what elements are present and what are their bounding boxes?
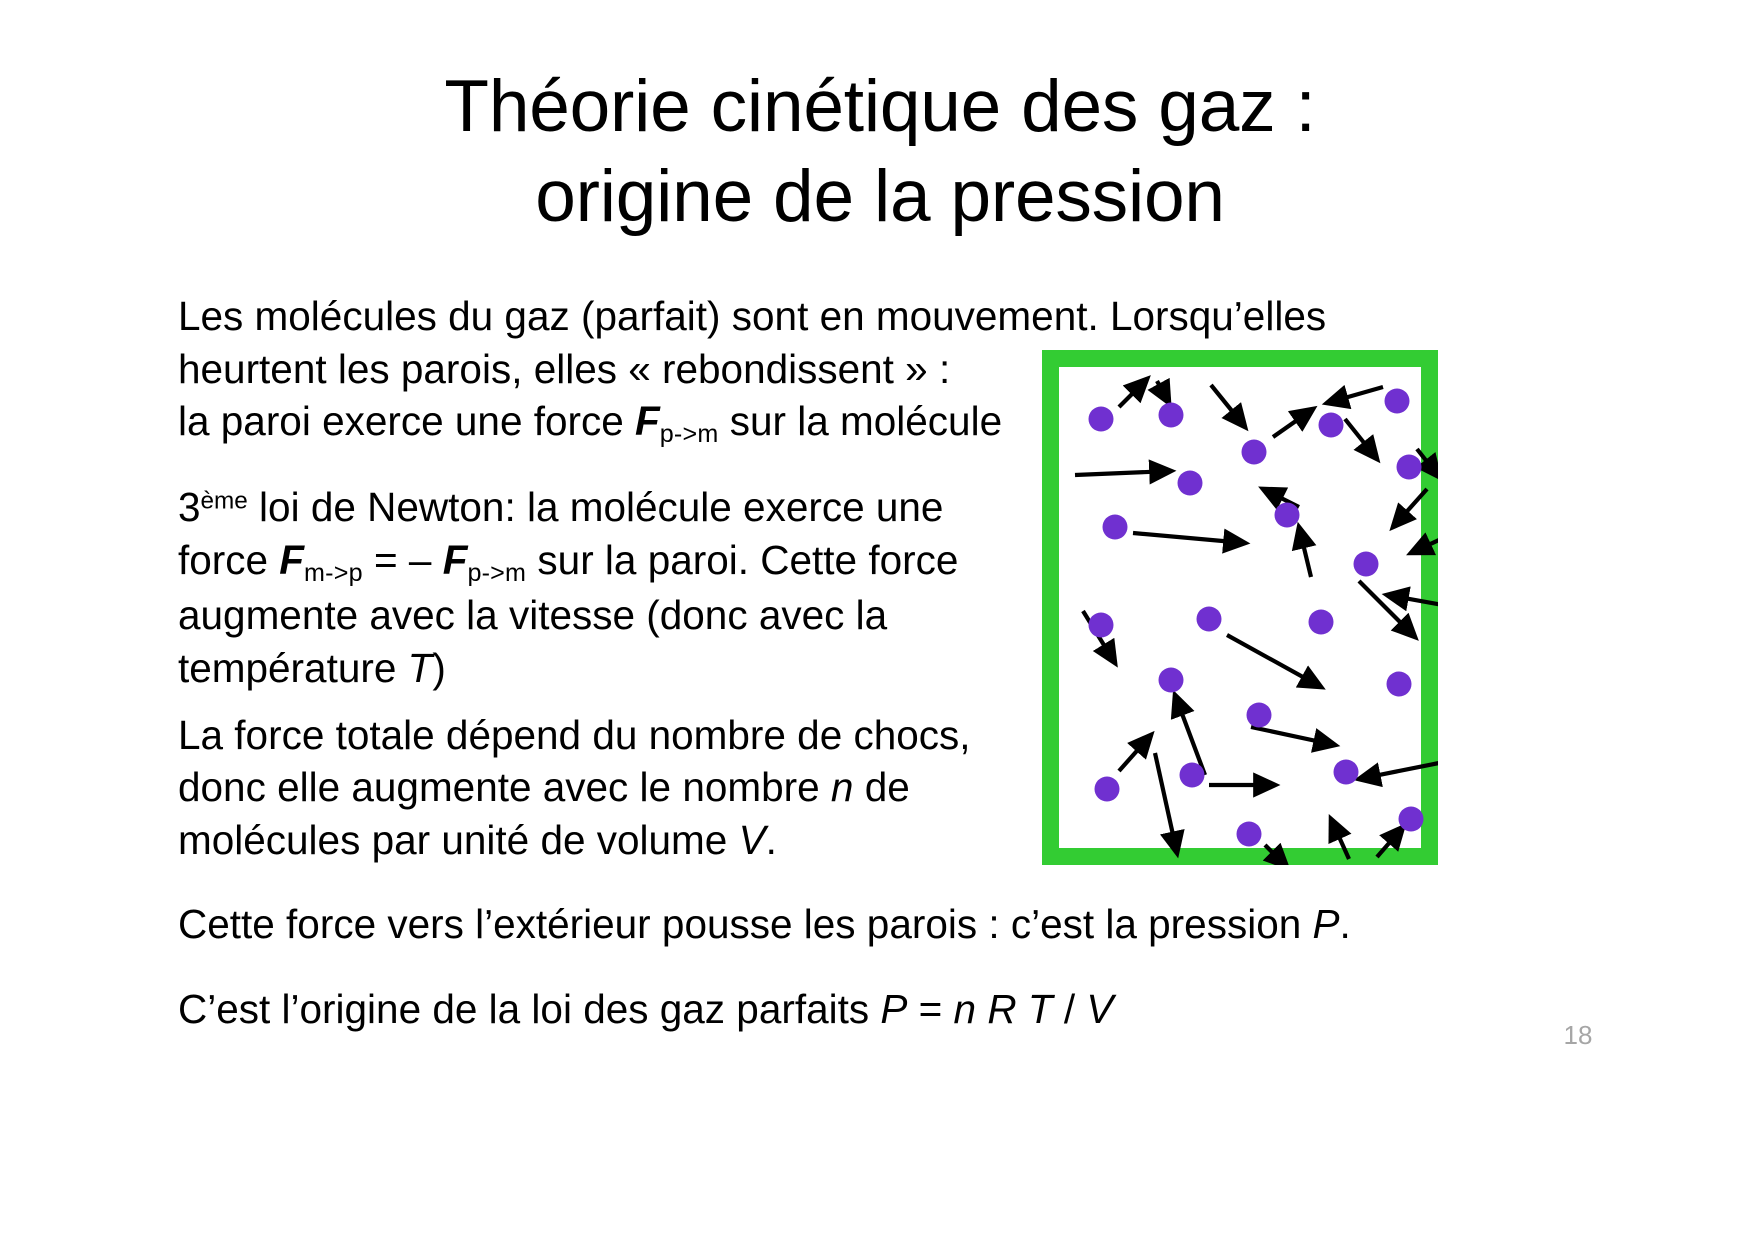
molecule: [1385, 389, 1410, 414]
gas-law-equals: =: [907, 986, 953, 1032]
velocity-arrow: [1387, 595, 1438, 605]
molecule: [1159, 668, 1184, 693]
force-symbol-m-to-p: F: [279, 537, 304, 583]
molecule: [1334, 760, 1359, 785]
velocity-arrow: [1393, 489, 1427, 527]
p2-line-1-post: loi de Newton: la molécule exerce une: [248, 484, 944, 530]
force-symbol-p-to-m-2: F: [443, 537, 468, 583]
slide-title: Théorie cinétique des gaz : origine de l…: [170, 62, 1590, 242]
velocity-arrow: [1359, 761, 1438, 779]
p3-line-3-pre: molécules par unité de volume: [178, 817, 739, 863]
p5-line-1: C’est l’origine de la loi des gaz parfai…: [178, 983, 1578, 1036]
gas-law-T: T: [1028, 986, 1053, 1032]
molecule: [1247, 703, 1272, 728]
title-line-1: Théorie cinétique des gaz :: [170, 62, 1590, 152]
velocity-arrow: [1327, 387, 1383, 403]
force-subscript-p-to-m: p->m: [660, 420, 719, 448]
molecule: [1237, 822, 1262, 847]
title-line-2: origine de la pression: [170, 152, 1590, 242]
force-subscript-p-to-m-2: p->m: [467, 559, 526, 587]
equals-minus: = –: [363, 537, 443, 583]
molecule: [1159, 403, 1184, 428]
velocity-arrow: [1299, 527, 1311, 577]
molecule: [1399, 807, 1424, 832]
paragraph-gas-law: C’est l’origine de la loi des gaz parfai…: [178, 983, 1578, 1036]
molecule: [1309, 610, 1334, 635]
p1-line-1: Les molécules du gaz (parfait) sont en m…: [178, 290, 1578, 343]
variable-volume: V: [739, 817, 766, 863]
gas-law-slash: /: [1053, 986, 1087, 1032]
molecule: [1354, 552, 1379, 577]
molecules-and-velocity-arrows: [1042, 350, 1438, 865]
velocity-arrow: [1411, 539, 1438, 553]
p1-line-3-post: sur la molécule: [718, 398, 1002, 444]
molecule: [1180, 763, 1205, 788]
p4-line-1: Cette force vers l’extérieur pousse les …: [178, 898, 1578, 951]
force-subscript-m-to-p: m->p: [304, 559, 363, 587]
velocity-arrow: [1119, 735, 1151, 771]
molecule: [1387, 672, 1412, 697]
slide-canvas: Théorie cinétique des gaz : origine de l…: [0, 0, 1755, 1240]
gas-law-R: R: [987, 986, 1016, 1032]
velocity-arrow: [1359, 581, 1415, 637]
molecule: [1242, 440, 1267, 465]
variable-pressure: P: [1313, 901, 1340, 947]
p3-line-3-post: .: [766, 817, 777, 863]
molecule: [1197, 607, 1222, 632]
gas-law-P: P: [880, 986, 907, 1032]
gas-law-space-2: [1017, 986, 1028, 1032]
velocity-arrow: [1075, 471, 1171, 475]
velocity-arrow: [1211, 385, 1245, 427]
newton-law-number: 3: [178, 484, 201, 530]
p2-line-4-post: ): [432, 645, 446, 691]
velocity-arrow: [1345, 419, 1377, 459]
velocity-arrow: [1155, 753, 1177, 853]
p4-line-1-pre: Cette force vers l’extérieur pousse les …: [178, 901, 1313, 947]
gas-container-diagram: [1042, 350, 1438, 865]
velocity-arrow: [1227, 635, 1321, 687]
p2-line-2-post: sur la paroi. Cette force: [526, 537, 958, 583]
velocity-arrow: [1273, 409, 1313, 437]
p1-line-3-pre: la paroi exerce une force: [178, 398, 635, 444]
gas-law-V: V: [1086, 986, 1113, 1032]
force-symbol-p-to-m: F: [635, 398, 660, 444]
velocity-arrow: [1331, 819, 1349, 859]
molecule: [1275, 503, 1300, 528]
p4-line-1-post: .: [1340, 901, 1351, 947]
p2-line-2-pre: force: [178, 537, 279, 583]
p5-line-1-pre: C’est l’origine de la loi des gaz parfai…: [178, 986, 880, 1032]
paragraph-pressure: Cette force vers l’extérieur pousse les …: [178, 898, 1578, 951]
velocity-arrow: [1133, 533, 1245, 543]
p3-line-2-post: de: [853, 764, 909, 810]
molecule: [1103, 515, 1128, 540]
variable-number-density: n: [831, 764, 854, 810]
molecule: [1178, 471, 1203, 496]
gas-law-n: n: [954, 986, 977, 1032]
p2-line-4-pre: température: [178, 645, 408, 691]
velocity-arrow: [1119, 379, 1147, 407]
gas-law-space-1: [976, 986, 987, 1032]
velocity-arrow: [1157, 381, 1169, 403]
molecule: [1089, 613, 1114, 638]
molecule: [1095, 777, 1120, 802]
velocity-arrow: [1377, 827, 1403, 857]
slide-number: 18: [1548, 1020, 1608, 1051]
molecule: [1397, 455, 1422, 480]
molecule: [1319, 413, 1344, 438]
newton-law-ordinal-suffix: ème: [201, 487, 248, 514]
p3-line-2-pre: donc elle augmente avec le nombre: [178, 764, 831, 810]
molecule: [1089, 407, 1114, 432]
variable-temperature: T: [408, 645, 433, 691]
velocity-arrow: [1265, 845, 1287, 865]
velocity-arrow: [1251, 727, 1335, 745]
